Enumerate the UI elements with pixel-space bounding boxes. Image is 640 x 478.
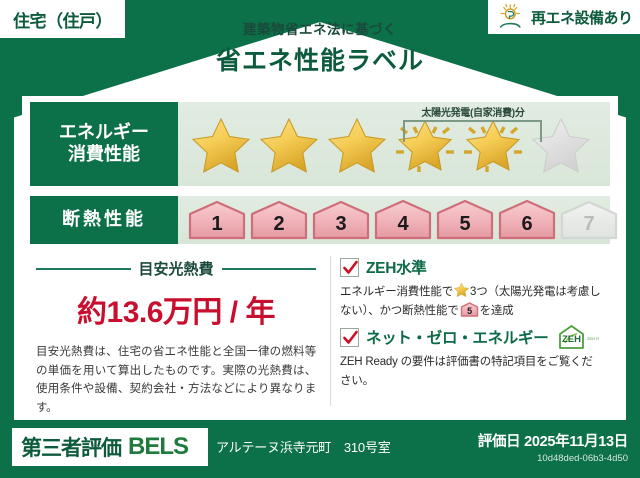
insulation-level-7: 7 — [560, 200, 618, 240]
zeh-standard-checkbox[interactable] — [340, 258, 359, 277]
insulation-level-2-number: 2 — [273, 213, 284, 240]
solar-bracket — [403, 120, 542, 142]
net-zero-energy-heading: ネット・ゼロ・エネルギー ZEH ZEH Ready — [340, 324, 604, 350]
cost-heading-rule-left — [36, 268, 131, 270]
insulation-level-1: 1 — [188, 200, 246, 240]
svg-text:5: 5 — [467, 306, 472, 316]
insulation-level-7-number: 7 — [583, 213, 594, 240]
building-type-badge-label: 住宅（住戸） — [13, 7, 112, 32]
insulation-level-4: 4 — [374, 200, 432, 240]
renewable-equipment-badge: 再エネ設備あり — [488, 0, 640, 34]
estimated-cost-value: 約13.6万円 / 年 — [36, 287, 316, 331]
inline-insulation-badge-5: 5 — [460, 302, 479, 317]
cost-note: 目安光熱費は、住宅の省エネ性能と全国一律の燃料等の単価を用いて算出したものです。… — [36, 343, 316, 418]
evaluation-date: 評価日 2025年11月13日 — [478, 430, 628, 451]
net-zero-energy-checkbox[interactable] — [340, 328, 359, 347]
bels-jp-label: 第三者評価 — [21, 432, 121, 462]
zeh-column: ZEH水準 エネルギー消費性能で3つ（太陽光発電は考慮しない）、かつ断熱性能で5… — [326, 252, 610, 414]
evaluation-id: 10d48ded-06b3-4d50 — [478, 453, 628, 464]
net-zero-energy-item: ネット・ゼロ・エネルギー ZEH ZEH Ready ZEH Ready の要件… — [340, 324, 604, 390]
zeh-standard-description: エネルギー消費性能で3つ（太陽光発電は考慮しない）、かつ断熱性能で5を達成 — [340, 281, 604, 320]
zeh-desc-part-3: を達成 — [480, 305, 514, 317]
net-zero-energy-title: ネット・ゼロ・エネルギー — [366, 326, 548, 348]
bels-en-label: BELS — [128, 433, 188, 461]
insulation-level-5-number: 5 — [459, 213, 470, 240]
solar-bracket-label: 太陽光発電(自家消費)分 — [398, 104, 548, 119]
insulation-performance-row: 断熱性能 1 — [30, 196, 610, 244]
svg-text:ZEH: ZEH — [562, 334, 581, 345]
insulation-level-1-number: 1 — [211, 213, 222, 240]
cost-column: 目安光熱費 約13.6万円 / 年 目安光熱費は、住宅の省エネ性能と全国一律の燃… — [30, 252, 326, 414]
net-zero-energy-description: ZEH Ready の要件は評価書の特記項目をご覧ください。 — [340, 353, 604, 390]
zeh-ready-logo-icon: ZEH ZEH Ready — [557, 324, 599, 350]
cost-heading: 目安光熱費 — [36, 258, 316, 279]
checkmark-icon — [343, 330, 358, 346]
svg-text:ZEH Ready: ZEH Ready — [587, 336, 599, 341]
insulation-level-3: 3 — [312, 200, 370, 240]
energy-star-1 — [188, 111, 254, 177]
checkmark-icon — [343, 260, 358, 276]
renewable-equipment-label: 再エネ設備あり — [531, 7, 633, 28]
label-content-card: エネルギー 消費性能 — [22, 96, 618, 420]
zeh-standard-heading: ZEH水準 — [340, 256, 604, 278]
cost-heading-label: 目安光熱費 — [139, 258, 214, 279]
zeh-standard-item: ZEH水準 エネルギー消費性能で3つ（太陽光発電は考慮しない）、かつ断熱性能で5… — [340, 256, 604, 320]
zeh-desc-part-1: エネルギー消費性能で — [340, 286, 453, 298]
energy-star-2 — [256, 111, 322, 177]
insulation-level-2: 2 — [250, 200, 308, 240]
property-address: アルテーヌ浜寺元町 310号室 — [216, 437, 391, 456]
zeh-standard-title: ZEH水準 — [366, 256, 427, 278]
details-columns: 目安光熱費 約13.6万円 / 年 目安光熱費は、住宅の省エネ性能と全国一律の燃… — [30, 252, 610, 414]
energy-performance-label: エネルギー 消費性能 — [30, 102, 178, 186]
label-title: 省エネ性能ラベル — [0, 41, 640, 77]
insulation-level-4-number: 4 — [397, 213, 408, 240]
insulation-levels-container: 1 2 3 4 — [178, 196, 620, 244]
insulation-level-6: 6 — [498, 200, 556, 240]
insulation-performance-label: 断熱性能 — [30, 196, 178, 244]
energy-performance-row: エネルギー 消費性能 — [30, 102, 610, 186]
evaluation-info: 評価日 2025年11月13日 10d48ded-06b3-4d50 — [478, 430, 628, 464]
insulation-level-3-number: 3 — [335, 213, 346, 240]
energy-label-root: 建築物省エネ法に基づく 省エネ性能ラベル 住宅（住戸） 再エネ設備あり — [0, 0, 640, 478]
insulation-level-5: 5 — [436, 200, 494, 240]
cost-heading-rule-right — [222, 268, 317, 270]
insulation-level-6-number: 6 — [521, 213, 532, 240]
building-type-badge: 住宅（住戸） — [0, 0, 125, 38]
sun-renewable-icon — [498, 4, 526, 30]
inline-star-icon — [453, 281, 470, 298]
energy-star-3 — [324, 111, 390, 177]
bels-plate: 第三者評価 BELS — [12, 428, 208, 466]
label-footer: 第三者評価 BELS アルテーヌ浜寺元町 310号室 評価日 2025年11月1… — [0, 420, 640, 478]
column-divider — [330, 256, 331, 406]
